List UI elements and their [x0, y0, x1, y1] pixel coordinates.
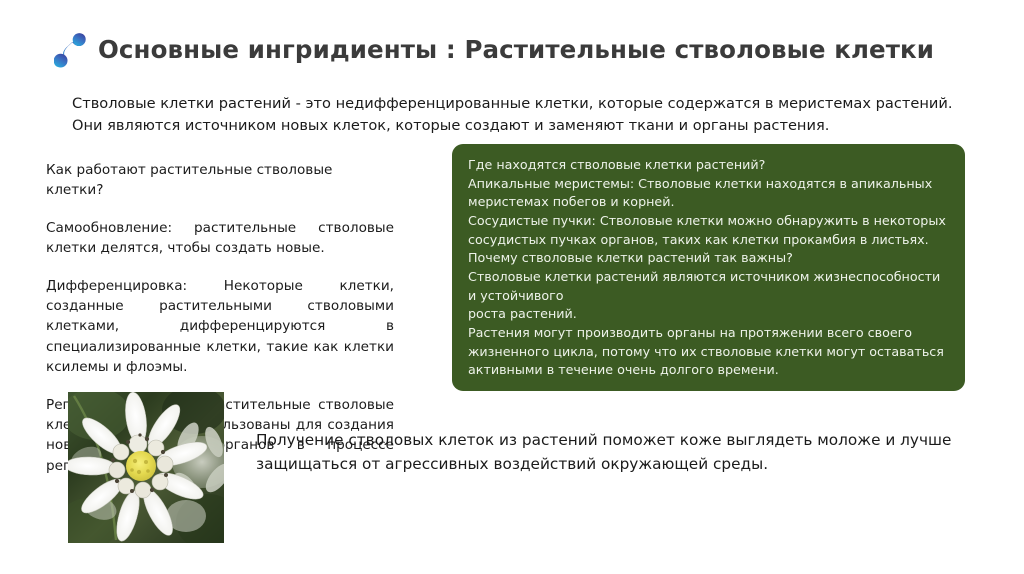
molecule-icon: [54, 30, 88, 70]
slide-root: Основные ингридиенты : Растительные ство…: [0, 0, 1024, 574]
green-line-vitality-source: Стволовые клетки растений являются источ…: [468, 268, 949, 305]
bottom-summary-paragraph: Получение стволовых клеток из растений п…: [256, 428, 956, 477]
green-line-importance-question: Почему стволовые клетки растений так важ…: [468, 249, 949, 268]
green-line-growth: роста растений.: [468, 305, 949, 324]
green-info-panel: Где находятся стволовые клетки растений?…: [452, 144, 965, 391]
edelweiss-flower-photo: [68, 392, 224, 543]
intro-paragraph: Стволовые клетки растений - это недиффер…: [72, 93, 962, 137]
green-line-lifecycle: Растения могут производить органы на про…: [468, 324, 949, 380]
slide-title-row: Основные ингридиенты : Растительные ство…: [54, 28, 934, 72]
left-paragraph-differentiation: Дифференцировка: Некоторые клетки, созда…: [46, 276, 394, 378]
page-title: Основные ингридиенты : Растительные ство…: [98, 38, 934, 63]
green-line-vascular-bundles: Сосудистые пучки: Стволовые клетки можно…: [468, 212, 949, 249]
green-line-apical-meristems: Апикальные меристемы: Стволовые клетки н…: [468, 175, 949, 212]
green-line-location-question: Где находятся стволовые клетки растений?: [468, 156, 949, 175]
left-paragraph-question: Как работают растительные стволовые клет…: [46, 160, 394, 201]
left-paragraph-self-renewal: Самообновление: растительные стволовые к…: [46, 218, 394, 259]
